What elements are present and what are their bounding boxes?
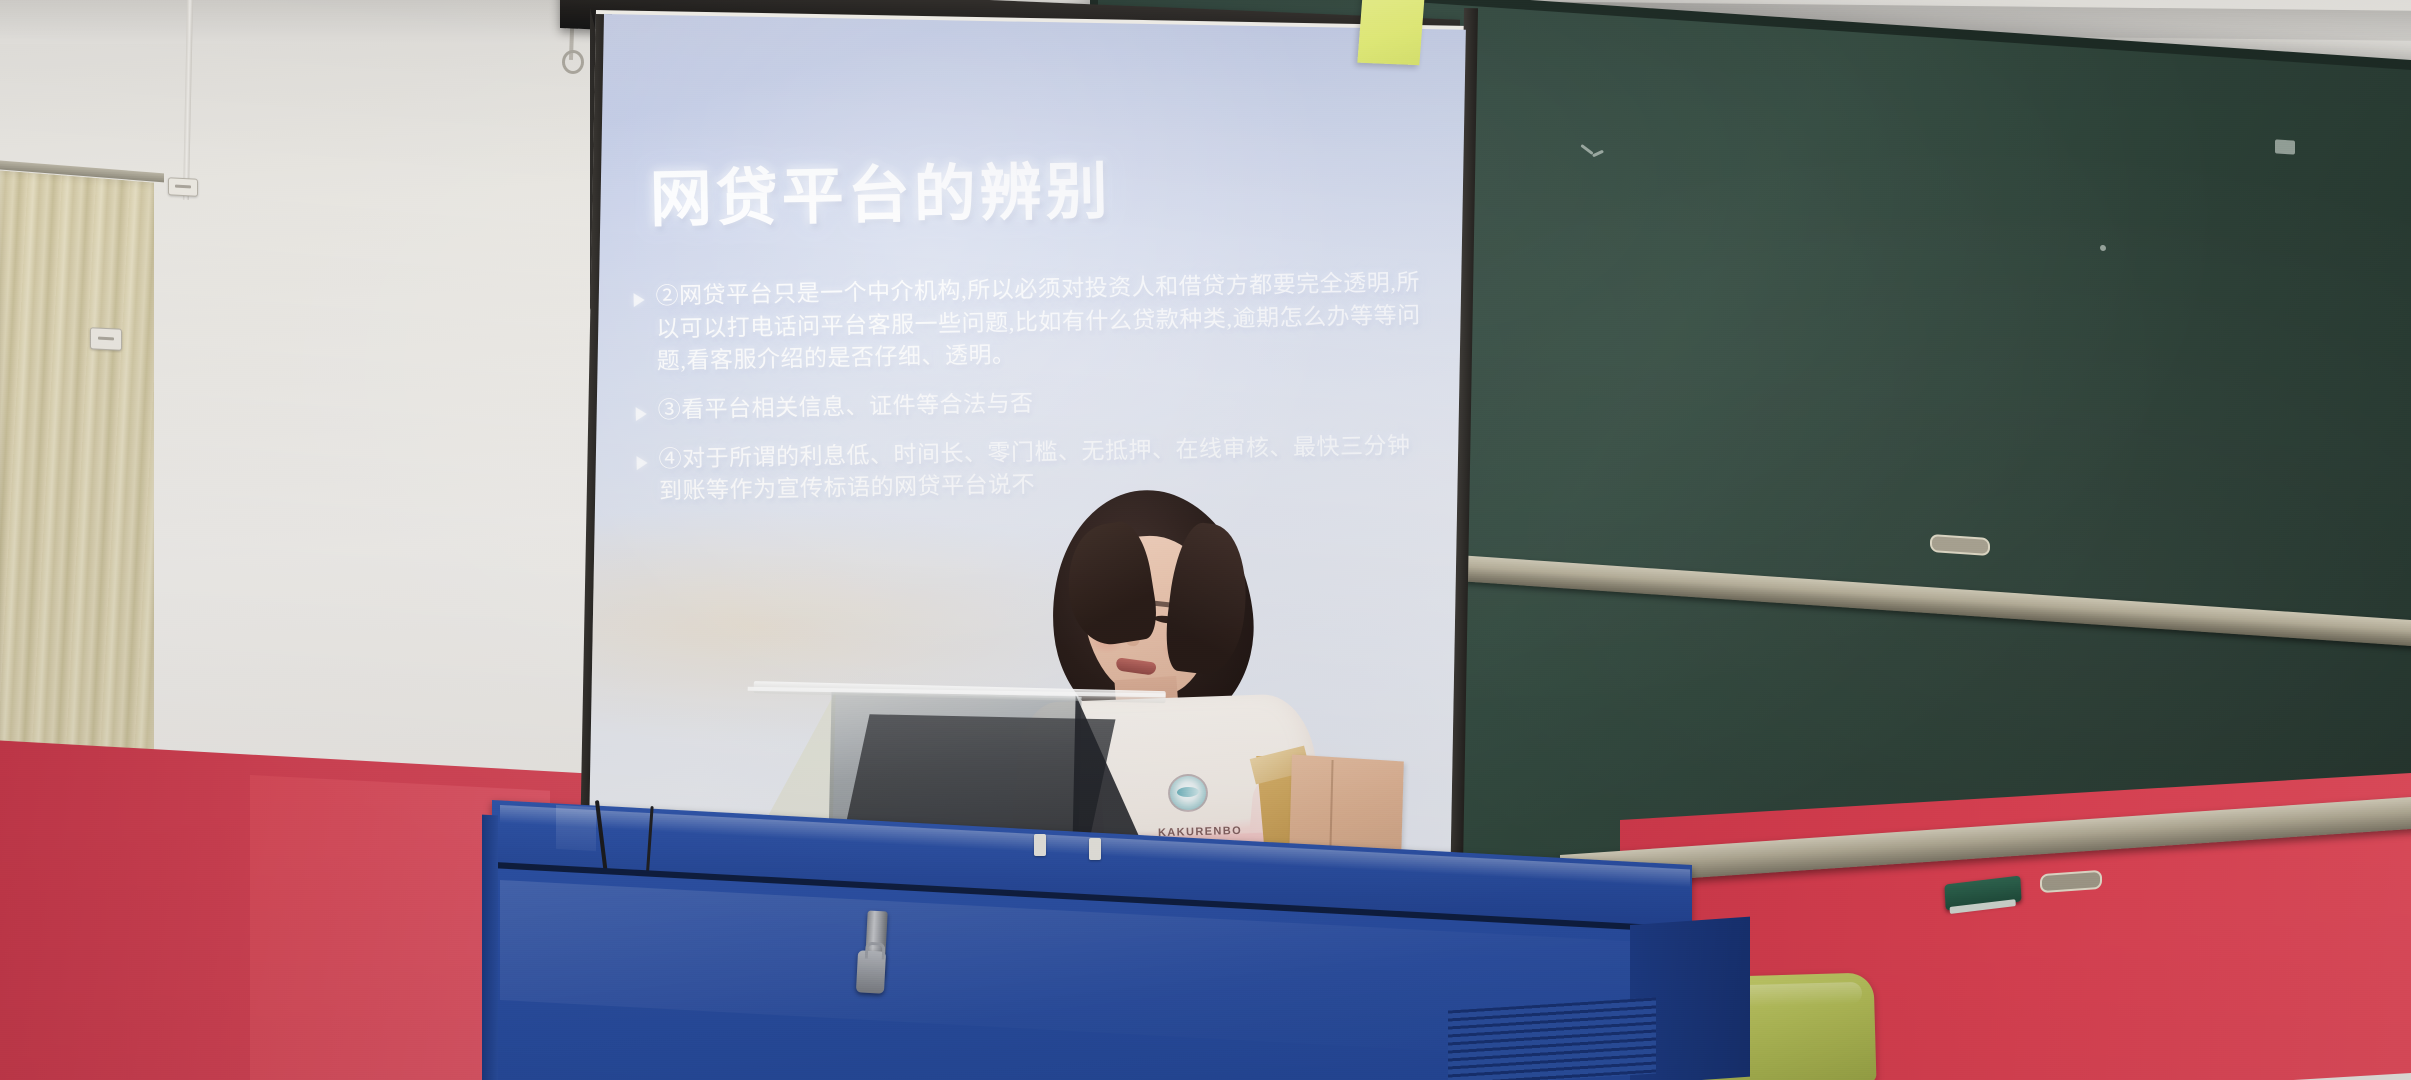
slide-bullet-item: ②网贷平台只是一个中介机构,所以必须对投资人和借贷方都要完全透明,所以可以打电话… <box>633 267 1425 379</box>
yellow-sticky-note[interactable] <box>1357 0 1424 65</box>
outlet-slot-icon <box>98 337 115 341</box>
ceiling-hook-ring <box>562 50 584 74</box>
podium-knob[interactable] <box>1034 834 1046 856</box>
triangle-right-icon <box>634 293 645 307</box>
podium-knob[interactable] <box>1089 838 1101 860</box>
wall-outlet-lower[interactable] <box>90 327 122 351</box>
podium-vent-grille <box>1448 997 1656 1080</box>
slide-title: 网贷平台的辨别 <box>649 140 1113 238</box>
chalk-smudge <box>2275 139 2295 154</box>
chalk-dot <box>2100 245 2106 251</box>
podium-tape-patch <box>556 805 596 851</box>
outlet-slot-icon <box>175 185 191 188</box>
triangle-right-icon <box>636 407 647 421</box>
podium-left-edge <box>482 815 498 1080</box>
wall-outlet-upper[interactable] <box>168 177 198 197</box>
slide-bullet-text: ②网贷平台只是一个中介机构,所以必须对投资人和借贷方都要完全透明,所以可以打电话… <box>655 267 1425 379</box>
padlock-icon[interactable] <box>856 950 886 993</box>
classroom-scene: 网贷平台的辨别 ②网贷平台只是一个中介机构,所以必须对投资人和借贷方都要完全透明… <box>0 0 2411 1080</box>
slide-bullet-text: ③看平台相关信息、证件等合法与否 <box>657 388 1034 428</box>
triangle-right-icon <box>637 456 648 470</box>
window-curtain[interactable] <box>0 170 154 803</box>
slide-bullet-item: ③看平台相关信息、证件等合法与否 <box>635 381 1425 428</box>
